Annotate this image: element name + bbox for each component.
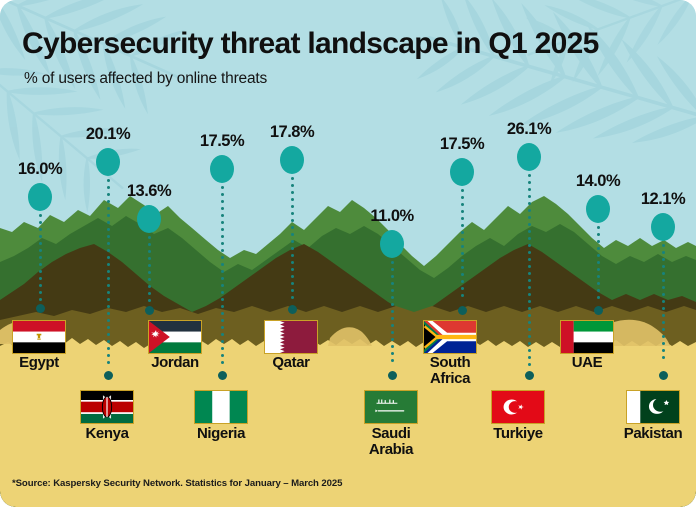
country-label-uae: UAE (547, 355, 627, 371)
leader-line-jordan (148, 236, 151, 306)
leader-line-pakistan (662, 244, 665, 369)
leader-enddot-qatar (288, 305, 297, 314)
leader-enddot-saudi-arabia (388, 371, 397, 380)
country-label-turkiye: Turkiye (478, 426, 558, 442)
value-bubble-saudi-arabia[interactable] (380, 230, 404, 258)
value-label-egypt: 16.0% (0, 160, 85, 179)
value-label-qatar: 17.8% (247, 123, 337, 142)
flag-nigeria[interactable] (194, 390, 248, 424)
leader-enddot-uae (594, 306, 603, 315)
value-bubble-jordan[interactable] (137, 205, 161, 233)
value-bubble-qatar[interactable] (280, 146, 304, 174)
leader-enddot-kenya (104, 371, 113, 380)
value-bubble-turkiye[interactable] (517, 143, 541, 171)
value-label-uae: 14.0% (553, 172, 643, 191)
leader-enddot-nigeria (218, 371, 227, 380)
country-label-south-africa: South Africa (410, 355, 490, 386)
leader-line-nigeria (221, 186, 224, 369)
flag-jordan[interactable] (148, 320, 202, 354)
country-label-pakistan: Pakistan (613, 426, 693, 442)
country-label-nigeria: Nigeria (181, 426, 261, 442)
leader-line-kenya (107, 179, 110, 369)
value-label-turkiye: 26.1% (484, 120, 574, 139)
value-bubble-egypt[interactable] (28, 183, 52, 211)
leader-line-uae (597, 226, 600, 306)
leader-line-south-africa (461, 189, 464, 307)
leader-enddot-jordan (145, 306, 154, 315)
leader-line-qatar (291, 177, 294, 305)
flag-pakistan[interactable] (626, 390, 680, 424)
leader-enddot-pakistan (659, 371, 668, 380)
country-label-jordan: Jordan (135, 355, 215, 371)
leader-line-egypt (39, 214, 42, 304)
value-bubble-nigeria[interactable] (210, 155, 234, 183)
value-label-saudi-arabia: 11.0% (347, 207, 437, 226)
infographic-card: Cybersecurity threat landscape in Q1 202… (0, 0, 696, 507)
country-label-qatar: Qatar (251, 355, 331, 371)
value-label-jordan: 13.6% (104, 182, 194, 201)
flag-egypt[interactable] (12, 320, 66, 354)
page-title: Cybersecurity threat landscape in Q1 202… (22, 28, 682, 60)
value-bubble-kenya[interactable] (96, 148, 120, 176)
value-label-kenya: 20.1% (63, 125, 153, 144)
leader-line-saudi-arabia (391, 261, 394, 369)
flag-turkiye[interactable] (491, 390, 545, 424)
value-label-pakistan: 12.1% (618, 190, 696, 209)
flag-south-africa[interactable] (423, 320, 477, 354)
source-note: *Source: Kaspersky Security Network. Sta… (12, 478, 342, 489)
leader-enddot-egypt (36, 304, 45, 313)
page-subtitle: % of users affected by online threats (24, 70, 584, 88)
leader-enddot-south-africa (458, 306, 467, 315)
leader-enddot-turkiye (525, 371, 534, 380)
flag-uae[interactable] (560, 320, 614, 354)
country-label-kenya: Kenya (67, 426, 147, 442)
value-bubble-uae[interactable] (586, 195, 610, 223)
flag-saudi-arabia[interactable] (364, 390, 418, 424)
leader-line-turkiye (528, 174, 531, 369)
country-label-egypt: Egypt (0, 355, 79, 371)
flag-kenya[interactable] (80, 390, 134, 424)
country-label-saudi-arabia: Saudi Arabia (351, 426, 431, 457)
value-bubble-south-africa[interactable] (450, 158, 474, 186)
flag-qatar[interactable] (264, 320, 318, 354)
value-bubble-pakistan[interactable] (651, 213, 675, 241)
